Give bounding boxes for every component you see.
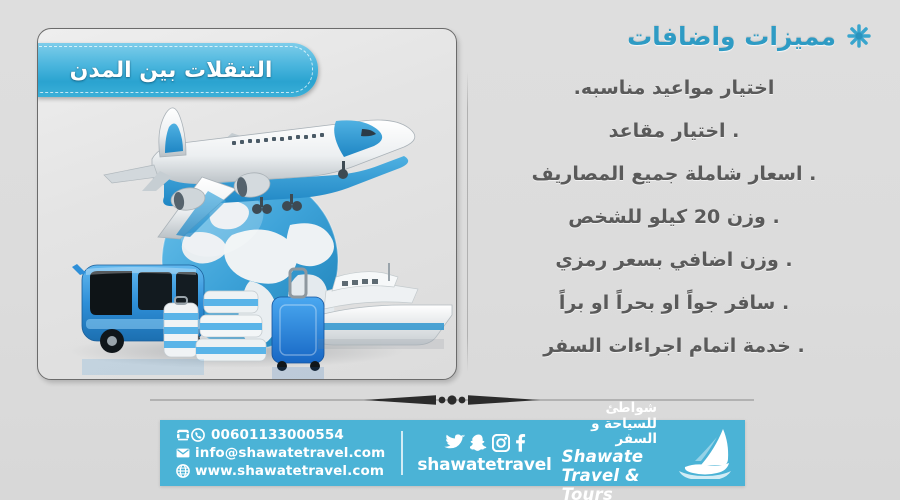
features-header: مميزات واضافات — [470, 10, 890, 62]
brand-logo: شواطئ للسياحة و السفر Shawate Travel & T… — [562, 401, 745, 500]
contact-email[interactable]: info@shawatetravel.com — [176, 445, 385, 462]
contact-phone[interactable]: 00601133000554 — [176, 427, 385, 444]
image-panel: التنقلات بين المدن — [37, 28, 457, 380]
section-ribbon: التنقلات بين المدن — [37, 43, 318, 97]
ribbon-label: التنقلات بين المدن — [70, 58, 285, 83]
twitter-icon[interactable] — [443, 434, 465, 452]
list-item: . خدمة اتمام اجراءات السفر — [480, 326, 868, 367]
email-value: info@shawatetravel.com — [195, 445, 385, 462]
logo-arabic: شواطئ للسياحة و السفر — [562, 401, 657, 448]
phone-value: 00601133000554 — [211, 427, 344, 444]
list-item: اختيار مواعيد مناسبه. — [480, 68, 868, 109]
footer-bar: 00601133000554 info@shawatetravel.com — [160, 420, 745, 486]
poster-canvas: التنقلات بين المدن مميزات واضافات اختيار… — [0, 0, 900, 500]
social-block: shawatetravel — [407, 432, 561, 475]
contact-block: 00601133000554 info@shawatetravel.com — [160, 427, 397, 480]
list-item: . وزن 20 كيلو للشخص — [480, 197, 868, 238]
instagram-icon[interactable] — [492, 434, 510, 452]
list-item: . اسعار شاملة جميع المصاريف — [480, 154, 868, 195]
features-list: اختيار مواعيد مناسبه. . اختيار مقاعد . ا… — [470, 62, 890, 367]
list-item: . اختيار مقاعد — [480, 111, 868, 152]
list-item: . وزن اضافي بسعر رمزي — [480, 240, 868, 281]
facebook-icon[interactable] — [515, 433, 526, 452]
sailboat-icon — [663, 427, 735, 479]
logo-english: Shawate Travel & Tours — [562, 448, 657, 500]
list-item: . سافر جواً او بحراً او براً — [480, 283, 868, 324]
globe-icon — [176, 464, 190, 478]
phone-whatsapp-icons — [176, 428, 206, 442]
snapchat-icon[interactable] — [470, 434, 487, 452]
envelope-icon — [176, 446, 190, 460]
website-value: www.shawatetravel.com — [195, 463, 384, 480]
social-handle[interactable]: shawatetravel — [417, 455, 551, 475]
page-title: مميزات واضافات — [627, 22, 836, 51]
contact-website[interactable]: www.shawatetravel.com — [176, 463, 385, 480]
burst-icon — [846, 23, 872, 49]
logo-text: شواطئ للسياحة و السفر Shawate Travel & T… — [562, 401, 657, 500]
features-section: مميزات واضافات اختيار مواعيد مناسبه. . ا… — [470, 10, 890, 385]
footer-divider — [401, 431, 403, 475]
social-icons — [443, 432, 526, 454]
